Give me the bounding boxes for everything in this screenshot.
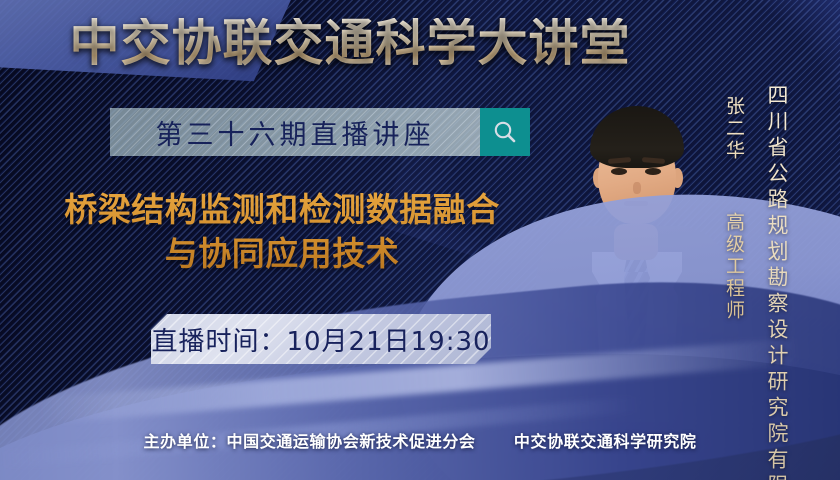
brand-title: 中交协联交通科学大讲堂 [0, 18, 700, 68]
episode-label-container: 第三十六期直播讲座 [110, 108, 480, 156]
search-button[interactable] [480, 108, 530, 156]
portrait-eye-left [611, 168, 627, 175]
live-time-text: 直播时间：10月21日19:30 [151, 321, 490, 358]
episode-bar: 第三十六期直播讲座 [110, 108, 530, 156]
subject-title: 桥梁结构监测和检测数据融合 与协同应用技术 [22, 188, 542, 275]
speaker-name-title: 张二华 高级工程师 [721, 96, 748, 322]
webinar-poster: 中交协联交通科学大讲堂 第三十六期直播讲座 桥梁结构监测和检测数据融合 与协同应… [0, 0, 840, 480]
speaker-organization: 四川省公路规划勘察设计研究院有限公司 [762, 84, 792, 480]
footer-organizer-secondary: 中交协联交通科学研究院 [514, 432, 697, 451]
footer-organizer-primary: 主办单位：中国交通运输协会新技术促进分会 [144, 432, 476, 451]
portrait-nose [633, 182, 641, 194]
episode-label: 第三十六期直播讲座 [156, 113, 435, 152]
search-icon [492, 119, 518, 145]
portrait-hair [590, 106, 684, 168]
subject-title-line-2: 与协同应用技术 [22, 232, 542, 276]
portrait-eye-right [645, 168, 661, 175]
live-time-chip: 直播时间：10月21日19:30 [151, 314, 491, 364]
subject-title-line-1: 桥梁结构监测和检测数据融合 [22, 188, 542, 232]
footer-organizers: 主办单位：中国交通运输协会新技术促进分会 中交协联交通科学研究院 [0, 428, 840, 452]
